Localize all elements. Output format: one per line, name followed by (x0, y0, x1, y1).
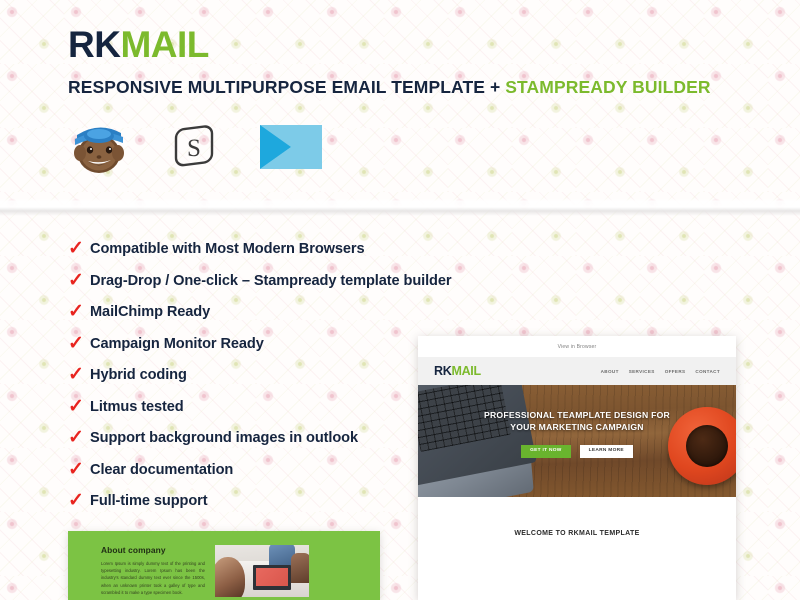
preview-nav-menu: ABOUT SERVICES OFFERS CONTACT (601, 369, 720, 374)
check-icon: ✓ (68, 239, 90, 258)
preview-browser-bar: View in Browser (418, 336, 736, 357)
preview-welcome-section: WELCOME TO RKMAIL TEMPLATE (418, 497, 736, 540)
feature-label: Support background images in outlook (90, 430, 358, 446)
brand-logo: RKMAIL (68, 26, 800, 63)
preview-logo-part1: RK (434, 364, 451, 378)
check-icon: ✓ (68, 491, 90, 510)
check-icon: ✓ (68, 428, 90, 447)
check-icon: ✓ (68, 397, 90, 416)
page-tagline: RESPONSIVE MULTIPURPOSE EMAIL TEMPLATE +… (68, 78, 800, 97)
learn-more-button[interactable]: LEARN MORE (580, 445, 633, 458)
preview-logo-part2: MAIL (451, 364, 480, 378)
tagline-main: RESPONSIVE MULTIPURPOSE EMAIL TEMPLATE + (68, 77, 505, 97)
preview-nav-contact[interactable]: CONTACT (695, 369, 720, 374)
photo-laptop-shape (253, 565, 291, 590)
platform-icon-list: S (68, 119, 800, 175)
feature-label: Compatible with Most Modern Browsers (90, 241, 365, 257)
preview-hero-banner: PROFESSIONAL TEAMPLATE DESIGN FOR YOUR M… (418, 385, 736, 497)
page-header: RKMAIL RESPONSIVE MULTIPURPOSE EMAIL TEM… (0, 0, 800, 175)
preview-logo: RKMAIL (434, 364, 481, 378)
about-photo (215, 545, 309, 597)
about-body-text: Lorem Ipsum is simply dummy text of the … (101, 560, 205, 596)
tagline-highlight: STAMPREADY BUILDER (505, 77, 710, 97)
preview-nav-offers[interactable]: OFFERS (665, 369, 686, 374)
list-item: ✓ MailChimp Ready (68, 301, 498, 327)
check-icon: ✓ (68, 460, 90, 479)
about-heading: About company (101, 545, 205, 555)
feature-label: Clear documentation (90, 462, 233, 478)
list-item: ✓ Drag-Drop / One-click – Stampready tem… (68, 270, 498, 296)
hero-headline-line1: PROFESSIONAL TEAMPLATE DESIGN FOR (418, 409, 736, 421)
get-it-now-button[interactable]: GET IT NOW (521, 445, 571, 458)
welcome-heading: WELCOME TO RKMAIL TEMPLATE (514, 530, 639, 537)
check-icon: ✓ (68, 302, 90, 321)
hero-button-group: GET IT NOW LEARN MORE (418, 445, 736, 458)
about-company-panel: About company Lorem Ipsum is simply dumm… (68, 531, 380, 600)
brand-logo-part1: RK (68, 24, 120, 65)
svg-text:S: S (187, 135, 201, 162)
mailchimp-icon (68, 119, 130, 175)
check-icon: ✓ (68, 271, 90, 290)
campaign-monitor-icon (258, 121, 324, 173)
preview-navbar: RKMAIL ABOUT SERVICES OFFERS CONTACT (418, 357, 736, 385)
preview-nav-services[interactable]: SERVICES (629, 369, 655, 374)
check-icon: ✓ (68, 334, 90, 353)
feature-label: Campaign Monitor Ready (90, 336, 264, 352)
stampready-icon: S (168, 119, 220, 175)
about-panel-content: About company Lorem Ipsum is simply dumm… (68, 531, 380, 597)
feature-label: Drag-Drop / One-click – Stampready templ… (90, 273, 451, 289)
view-in-browser-link[interactable]: View in Browser (558, 344, 597, 350)
promo-page: RKMAIL RESPONSIVE MULTIPURPOSE EMAIL TEM… (0, 0, 800, 600)
list-item: ✓ Compatible with Most Modern Browsers (68, 238, 498, 264)
feature-label: MailChimp Ready (90, 304, 210, 320)
feature-label: Full-time support (90, 493, 207, 509)
photo-person-brown-shape (291, 553, 309, 583)
brand-logo-part2: MAIL (120, 24, 208, 65)
email-template-preview: View in Browser RKMAIL ABOUT SERVICES OF… (418, 336, 736, 600)
check-icon: ✓ (68, 365, 90, 384)
feature-label: Litmus tested (90, 399, 184, 415)
hero-headline-line2: YOUR MARKETING CAMPAIGN (418, 421, 736, 433)
photo-woman-shape (215, 557, 245, 597)
feature-label: Hybrid coding (90, 367, 187, 383)
section-divider (0, 198, 800, 216)
about-text-block: About company Lorem Ipsum is simply dumm… (101, 545, 205, 597)
preview-hero-copy: PROFESSIONAL TEAMPLATE DESIGN FOR YOUR M… (418, 409, 736, 458)
preview-nav-about[interactable]: ABOUT (601, 369, 619, 374)
